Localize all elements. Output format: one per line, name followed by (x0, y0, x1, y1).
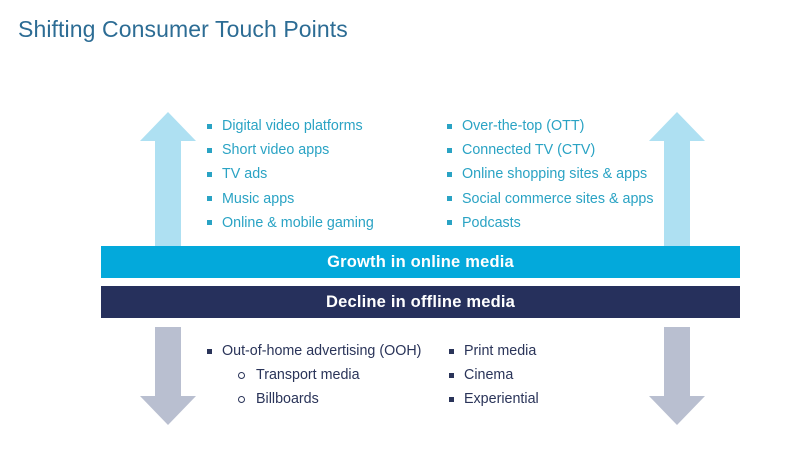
list-item: Print media (447, 339, 539, 363)
list-item: Music apps (205, 187, 374, 211)
page-title: Shifting Consumer Touch Points (18, 16, 348, 43)
list-item: Experiential (447, 387, 539, 411)
list-item: Podcasts (445, 211, 654, 235)
list-item: Out-of-home advertising (OOH) (205, 339, 421, 363)
arrow-up-right-icon (648, 112, 706, 252)
list-item: Online & mobile gaming (205, 211, 374, 235)
decline-banner: Decline in offline media (101, 286, 740, 318)
growth-banner-label: Growth in online media (327, 253, 514, 272)
list-item: Cinema (447, 363, 539, 387)
offline-touchpoints-right-list: Print media Cinema Experiential (447, 339, 539, 412)
list-item: Digital video platforms (205, 114, 374, 138)
list-item: TV ads (205, 162, 374, 186)
list-item: Over-the-top (OTT) (445, 114, 654, 138)
list-item: Short video apps (205, 138, 374, 162)
offline-touchpoints-left-list: Out-of-home advertising (OOH) Transport … (205, 339, 421, 412)
list-item: Transport media (205, 363, 421, 387)
online-touchpoints-left-list: Digital video platforms Short video apps… (205, 114, 374, 235)
growth-banner: Growth in online media (101, 246, 740, 278)
online-touchpoints-right-list: Over-the-top (OTT) Connected TV (CTV) On… (445, 114, 654, 235)
arrow-down-left-icon (139, 327, 197, 425)
decline-banner-label: Decline in offline media (326, 293, 515, 312)
list-item: Connected TV (CTV) (445, 138, 654, 162)
arrow-down-right-icon (648, 327, 706, 425)
list-item: Billboards (205, 387, 421, 411)
list-item: Social commerce sites & apps (445, 187, 654, 211)
list-item: Online shopping sites & apps (445, 162, 654, 186)
slide-canvas: Shifting Consumer Touch Points Digital v… (0, 0, 800, 458)
arrow-up-left-icon (139, 112, 197, 252)
